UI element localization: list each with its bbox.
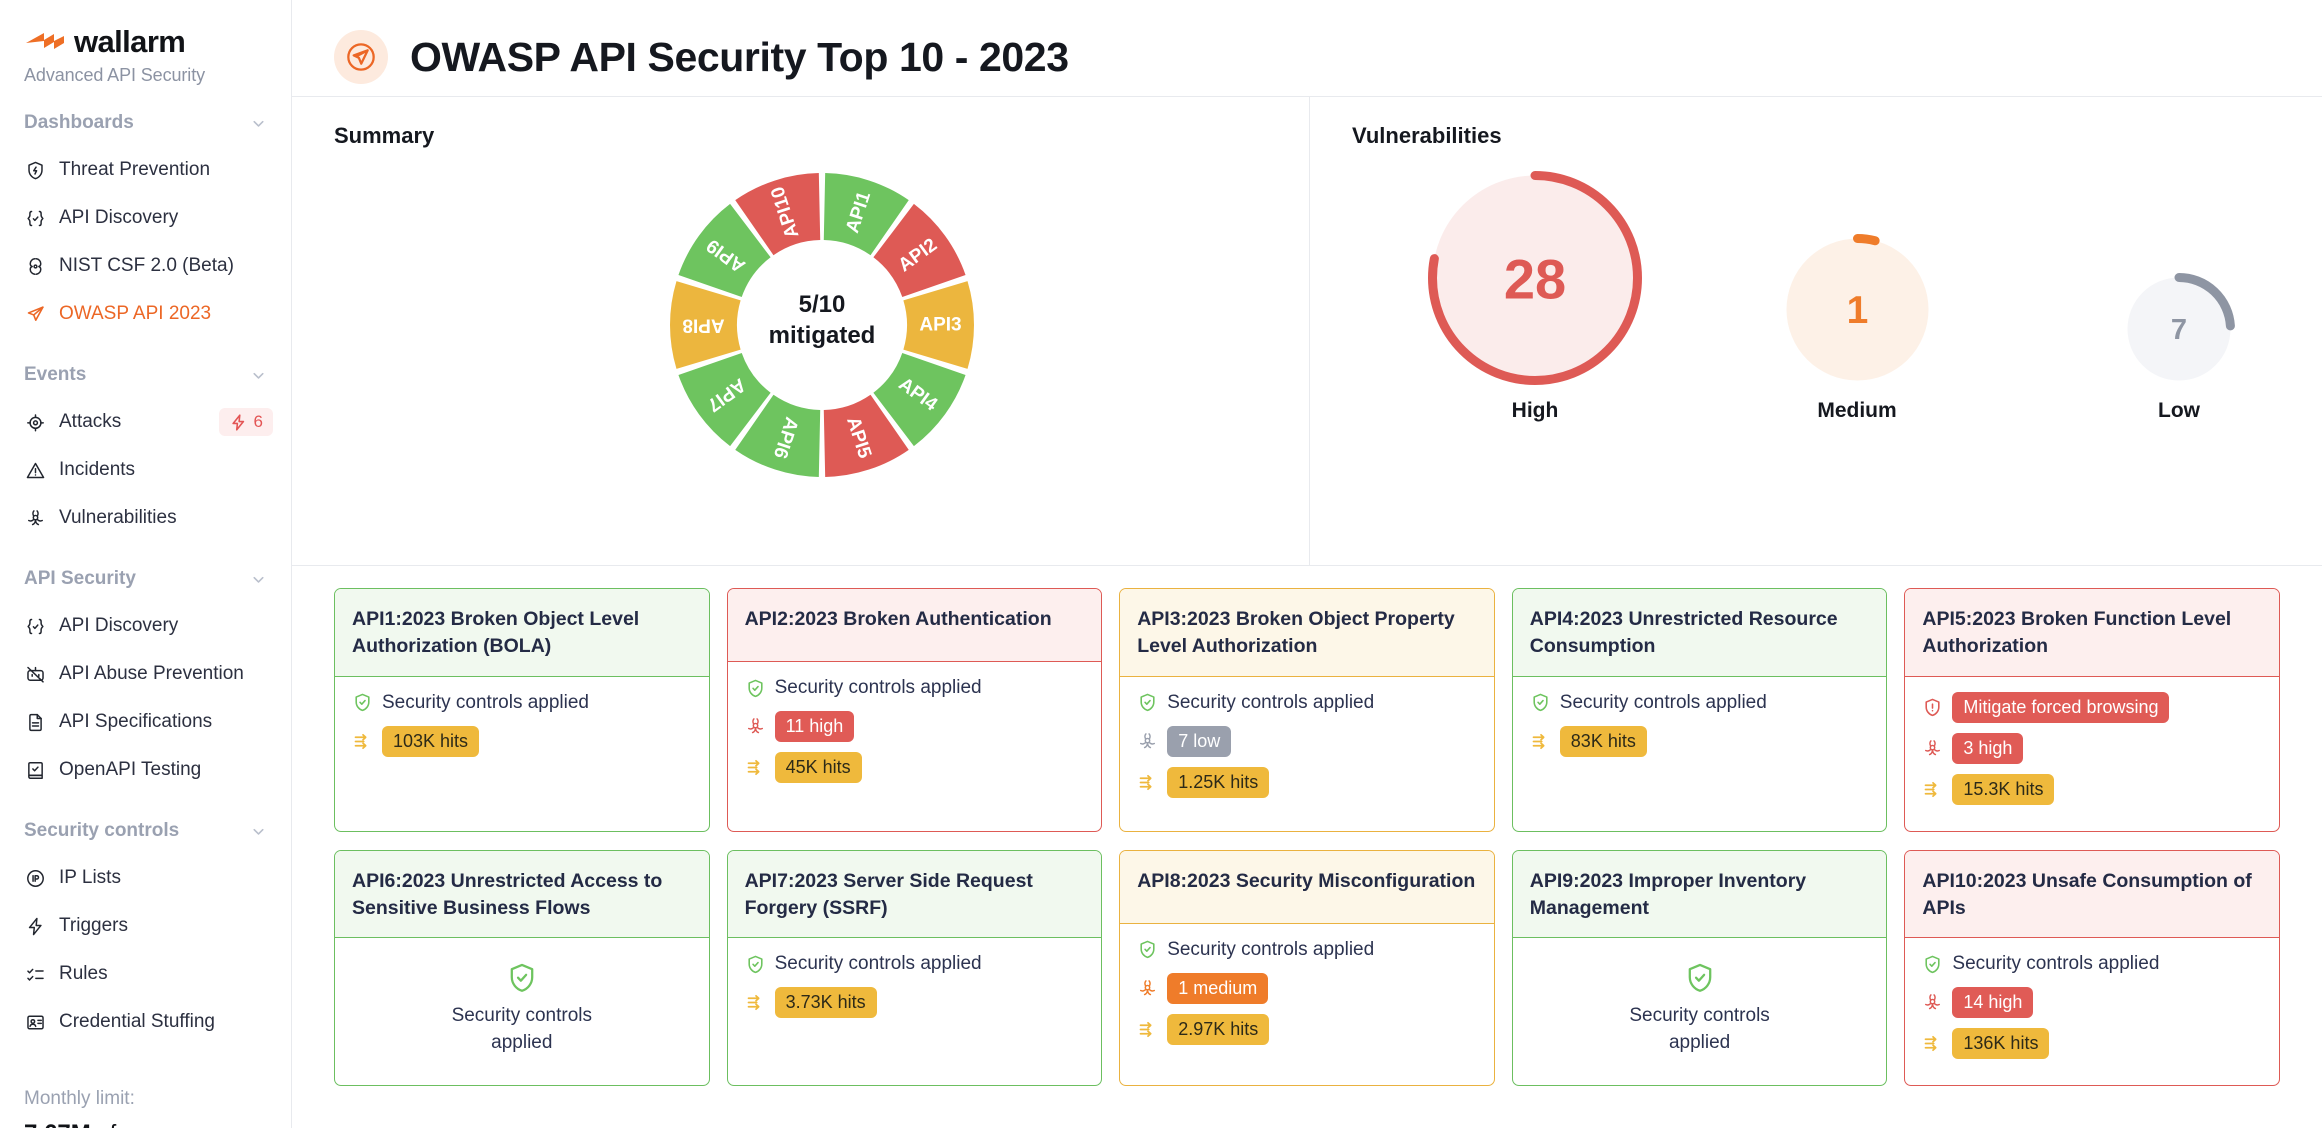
nist-pinwheel-icon [24,255,46,277]
shield-check-icon [1137,939,1158,960]
bolt-icon [24,915,46,937]
card-chip-row[interactable]: 1.25K hits [1137,767,1477,798]
card-chip-row[interactable]: 11 high [745,711,1085,742]
wallarm-logo-icon [24,29,66,55]
gauge-value: 7 [2171,314,2187,346]
attacks-count-badge[interactable]: 6 [219,408,273,436]
sidebar-item-api-discovery[interactable]: API Discovery [0,602,291,650]
card-body: Security controls applied [1513,938,1887,1085]
hits-arrows-icon [1922,779,1943,800]
card-chip-row[interactable]: 7 low [1137,726,1477,757]
sidebar-item-api-specifications[interactable]: API Specifications [0,698,291,746]
card-body: Security controls applied7 low1.25K hits [1120,677,1494,831]
owasp-card-api8[interactable]: API8:2023 Security MisconfigurationSecur… [1119,850,1495,1087]
card-body: Security controls applied [335,938,709,1085]
biohazard-icon [1922,738,1943,759]
card-body: Security controls applied1 medium2.97K h… [1120,924,1494,1086]
brand-subtitle: Advanced API Security [24,65,267,86]
card-chip-row[interactable]: 1 medium [1137,973,1477,1004]
card-chip-row[interactable]: 2.97K hits [1137,1014,1477,1045]
sidebar-item-openapi-testing[interactable]: OpenAPI Testing [0,746,291,794]
id-card-icon [24,1011,46,1033]
sidebar-nav: DashboardsThreat PreventionAPI Discovery… [0,100,291,1046]
monthly-limit-block: Monthly limit: 7.67M of ∞ [0,1062,291,1128]
paper-plane-icon [24,303,46,325]
monthly-limit-label: Monthly limit: [24,1088,267,1110]
sidebar-item-label: Rules [59,963,273,985]
security-controls-text: Security controls applied [1615,1003,1785,1056]
page-header: OWASP API Security Top 10 - 2023 [292,0,2322,96]
shield-check-icon [745,954,766,975]
card-title: API6:2023 Unrestricted Access to Sensiti… [335,851,709,939]
security-controls-text: Security controls applied [1952,953,2159,975]
sidebar-item-label: Threat Prevention [59,159,273,181]
monthly-limit-value: 7.67M of ∞ [24,1120,267,1128]
owasp-card-api2[interactable]: API2:2023 Broken AuthenticationSecurity … [727,588,1103,832]
sidebar-item-label: Attacks [59,411,206,433]
card-chip-row[interactable]: 103K hits [352,726,692,757]
gauge-label: Low [2158,399,2200,423]
card-body: Security controls applied14 high136K hit… [1905,938,2279,1085]
top-panels: Summary API1API2API3API4API5API6API7API8… [292,96,2322,566]
sidebar-item-label: IP Lists [59,867,273,889]
card-chip-row[interactable]: 45K hits [745,752,1085,783]
sidebar-group-dashboards[interactable]: Dashboards [0,100,291,146]
gauge-high[interactable]: 28High [1374,171,1696,423]
checklist-icon [24,963,46,985]
biohazard-icon [1137,978,1158,999]
card-title: API10:2023 Unsafe Consumption of APIs [1905,851,2279,939]
sidebar-item-incidents[interactable]: Incidents [0,446,291,494]
shield-alert-icon [1922,697,1943,718]
security-controls-row: Security controls applied [1137,692,1477,714]
owasp-card-api9[interactable]: API9:2023 Improper Inventory ManagementS… [1512,850,1888,1087]
sidebar-item-credential-stuffing[interactable]: Credential Stuffing [0,998,291,1046]
gauge-value: 28 [1504,248,1566,311]
card-chip[interactable]: 3.73K hits [775,987,877,1018]
chevron-down-icon[interactable] [250,571,267,588]
shield-bolt-icon [24,159,46,181]
card-chip-row[interactable]: 14 high [1922,987,2262,1018]
document-icon [24,711,46,733]
biohazard-icon [1922,992,1943,1013]
hits-arrows-icon [1137,772,1158,793]
security-controls-text: Security controls applied [437,1003,607,1056]
gauge-svg: 7 [2123,273,2235,385]
biohazard-icon [1137,731,1158,752]
donut-segment-label: API3 [919,315,961,336]
sidebar-item-attacks[interactable]: Attacks6 [0,398,291,446]
owasp-card-grid: API1:2023 Broken Object Level Authorizat… [292,566,2322,1104]
card-chip[interactable]: 83K hits [1560,726,1647,757]
shield-check-icon [505,961,539,995]
card-chip-row[interactable]: Mitigate forced browsing [1922,692,2262,723]
gauge-svg: 28 [1428,171,1642,385]
card-chip[interactable]: 1 medium [1167,973,1268,1004]
biohazard-icon [24,507,46,529]
monthly-limit-of: of [97,1120,116,1128]
card-chip[interactable]: 2.97K hits [1167,1014,1269,1045]
owasp-card-api1[interactable]: API1:2023 Broken Object Level Authorizat… [334,588,710,832]
hits-arrows-icon [745,992,766,1013]
card-chip-row[interactable]: 3 high [1922,733,2262,764]
hits-arrows-icon [1137,1019,1158,1040]
braces-check-icon [24,207,46,229]
gauge-svg: 1 [1782,234,1933,385]
card-title: API5:2023 Broken Function Level Authoriz… [1905,589,2279,677]
gauge-label: High [1512,399,1559,423]
shield-check-icon [1530,692,1551,713]
owasp-card-api6[interactable]: API6:2023 Unrestricted Access to Sensiti… [334,850,710,1087]
vulnerabilities-title: Vulnerabilities [1352,123,2322,149]
security-controls-row: Security controls applied [1922,953,2262,975]
brand[interactable]: wallarm Advanced API Security [0,16,291,86]
security-controls-row: Security controls applied [745,953,1085,975]
crosshair-icon [24,411,46,433]
sidebar-item-threat-prevention[interactable]: Threat Prevention [0,146,291,194]
card-chip[interactable]: 45K hits [775,752,862,783]
sidebar-item-rules[interactable]: Rules [0,950,291,998]
gauge-medium[interactable]: 1Medium [1696,234,2018,423]
app-root: wallarm Advanced API Security Dashboards… [0,0,2322,1128]
sidebar-item-label: API Discovery [59,207,273,229]
attacks-count: 6 [254,412,263,432]
sidebar-item-api-abuse-prevention[interactable]: API Abuse Prevention [0,650,291,698]
card-chip[interactable]: 14 high [1952,987,2033,1018]
card-chip-row[interactable]: 136K hits [1922,1028,2262,1059]
shield-check-icon [745,678,766,699]
donut-center-score: 5/10 [798,291,845,318]
sidebar-group-security-controls[interactable]: Security controls [0,808,291,854]
vulnerability-gauges: 28High1Medium7Low [1352,171,2322,423]
card-chip[interactable]: 3 high [1952,733,2023,764]
owasp-card-api5[interactable]: API5:2023 Broken Function Level Authoriz… [1904,588,2280,832]
sidebar-item-label: API Specifications [59,711,273,733]
book-check-icon [24,759,46,781]
card-chip-row[interactable]: 83K hits [1530,726,1870,757]
sidebar-item-label: Triggers [59,915,273,937]
chevron-down-icon[interactable] [250,823,267,840]
card-title: API3:2023 Broken Object Property Level A… [1120,589,1494,677]
security-controls-row: Security controls applied [1137,939,1477,961]
summary-title: Summary [334,123,1309,149]
sidebar-item-label: NIST CSF 2.0 (Beta) [59,255,273,277]
owasp-card-api7[interactable]: API7:2023 Server Side Request Forgery (S… [727,850,1103,1087]
chevron-down-icon[interactable] [250,115,267,132]
owasp-card-api3[interactable]: API3:2023 Broken Object Property Level A… [1119,588,1495,832]
sidebar-group-label: API Security [24,568,136,590]
sidebar-item-ip-lists[interactable]: IP Lists [0,854,291,902]
security-controls-row: Security controls applied [745,677,1085,699]
shield-check-icon [1683,961,1717,995]
hits-arrows-icon [745,757,766,778]
shield-check-icon [1137,692,1158,713]
page-title: OWASP API Security Top 10 - 2023 [410,34,1069,81]
security-controls-row: Security controls applied [1530,692,1870,714]
sidebar-item-label: API Abuse Prevention [59,663,273,685]
shield-check-icon [1922,954,1943,975]
card-chip[interactable]: 103K hits [382,726,479,757]
sidebar: wallarm Advanced API Security Dashboards… [0,0,292,1128]
card-chip[interactable]: 7 low [1167,726,1231,757]
monthly-limit-max: ∞ [123,1120,139,1128]
card-body: Security controls applied3.73K hits [728,938,1102,1085]
main-content: OWASP API Security Top 10 - 2023 Summary… [292,0,2322,1128]
card-chip[interactable]: 11 high [775,711,855,742]
monthly-limit-number: 7.67M [24,1120,91,1128]
summary-panel: Summary API1API2API3API4API5API6API7API8… [292,97,1310,565]
card-title: API4:2023 Unrestricted Resource Consumpt… [1513,589,1887,677]
sidebar-item-vulnerabilities[interactable]: Vulnerabilities [0,494,291,542]
sidebar-item-label: API Discovery [59,615,273,637]
card-title: API2:2023 Broken Authentication [728,589,1102,662]
hits-arrows-icon [1922,1033,1943,1054]
sidebar-item-triggers[interactable]: Triggers [0,902,291,950]
sidebar-group-api-security[interactable]: API Security [0,556,291,602]
security-controls-text: Security controls applied [775,953,982,975]
paper-plane-icon [334,30,388,84]
card-title: API9:2023 Improper Inventory Management [1513,851,1887,939]
robot-off-icon [24,663,46,685]
card-body: Mitigate forced browsing3 high15.3K hits [1905,677,2279,831]
gauge-label: Medium [1817,399,1896,423]
biohazard-icon [745,716,766,737]
sidebar-item-nist-csf-2-0-beta[interactable]: NIST CSF 2.0 (Beta) [0,242,291,290]
security-controls-text: Security controls applied [382,692,589,714]
gauge-low[interactable]: 7Low [2018,273,2322,423]
security-controls-text: Security controls applied [1167,939,1374,961]
bolt-icon [229,413,248,432]
donut-svg: API1API2API3API4API5API6API7API8API9API1… [652,155,992,495]
donut-segment-label: API8 [682,315,724,336]
summary-donut-chart[interactable]: API1API2API3API4API5API6API7API8API9API1… [334,155,1309,495]
chevron-down-icon[interactable] [250,367,267,384]
card-chip[interactable]: 15.3K hits [1952,774,2054,805]
sidebar-group-label: Events [24,364,86,386]
card-chip-row[interactable]: 15.3K hits [1922,774,2262,805]
card-body: Security controls applied83K hits [1513,677,1887,831]
shield-check-icon [352,692,373,713]
donut-center-caption: mitigated [768,322,875,349]
sidebar-group-events[interactable]: Events [0,352,291,398]
card-body: Security controls applied103K hits [335,677,709,831]
security-controls-text: Security controls applied [1560,692,1767,714]
card-chip-row[interactable]: 3.73K hits [745,987,1085,1018]
card-chip[interactable]: 136K hits [1952,1028,2049,1059]
card-title: API1:2023 Broken Object Level Authorizat… [335,589,709,677]
sidebar-group-label: Dashboards [24,112,134,134]
sidebar-group-label: Security controls [24,820,179,842]
card-title: API8:2023 Security Misconfiguration [1120,851,1494,924]
sidebar-item-label: Incidents [59,459,273,481]
sidebar-item-label: Vulnerabilities [59,507,273,529]
warning-triangle-icon [24,459,46,481]
card-chip[interactable]: Mitigate forced browsing [1952,692,2169,723]
security-controls-text: Security controls applied [1167,692,1374,714]
sidebar-item-owasp-api-2023[interactable]: OWASP API 2023 [0,290,291,338]
card-body: Security controls applied11 high45K hits [728,662,1102,831]
security-controls-row: Security controls applied [352,692,692,714]
card-chip[interactable]: 1.25K hits [1167,767,1269,798]
brand-name: wallarm [74,24,185,60]
ip-circle-icon [24,867,46,889]
owasp-card-api4[interactable]: API4:2023 Unrestricted Resource Consumpt… [1512,588,1888,832]
security-controls-text: Security controls applied [775,677,982,699]
owasp-card-api10[interactable]: API10:2023 Unsafe Consumption of APIsSec… [1904,850,2280,1087]
sidebar-item-label: OWASP API 2023 [59,303,273,325]
sidebar-item-label: OpenAPI Testing [59,759,273,781]
card-title: API7:2023 Server Side Request Forgery (S… [728,851,1102,939]
hits-arrows-icon [1530,731,1551,752]
braces-check-icon [24,615,46,637]
sidebar-item-label: Credential Stuffing [59,1011,273,1033]
gauge-value: 1 [1846,289,1868,332]
vulnerabilities-panel: Vulnerabilities 28High1Medium7Low [1310,97,2322,565]
sidebar-item-api-discovery[interactable]: API Discovery [0,194,291,242]
hits-arrows-icon [352,731,373,752]
